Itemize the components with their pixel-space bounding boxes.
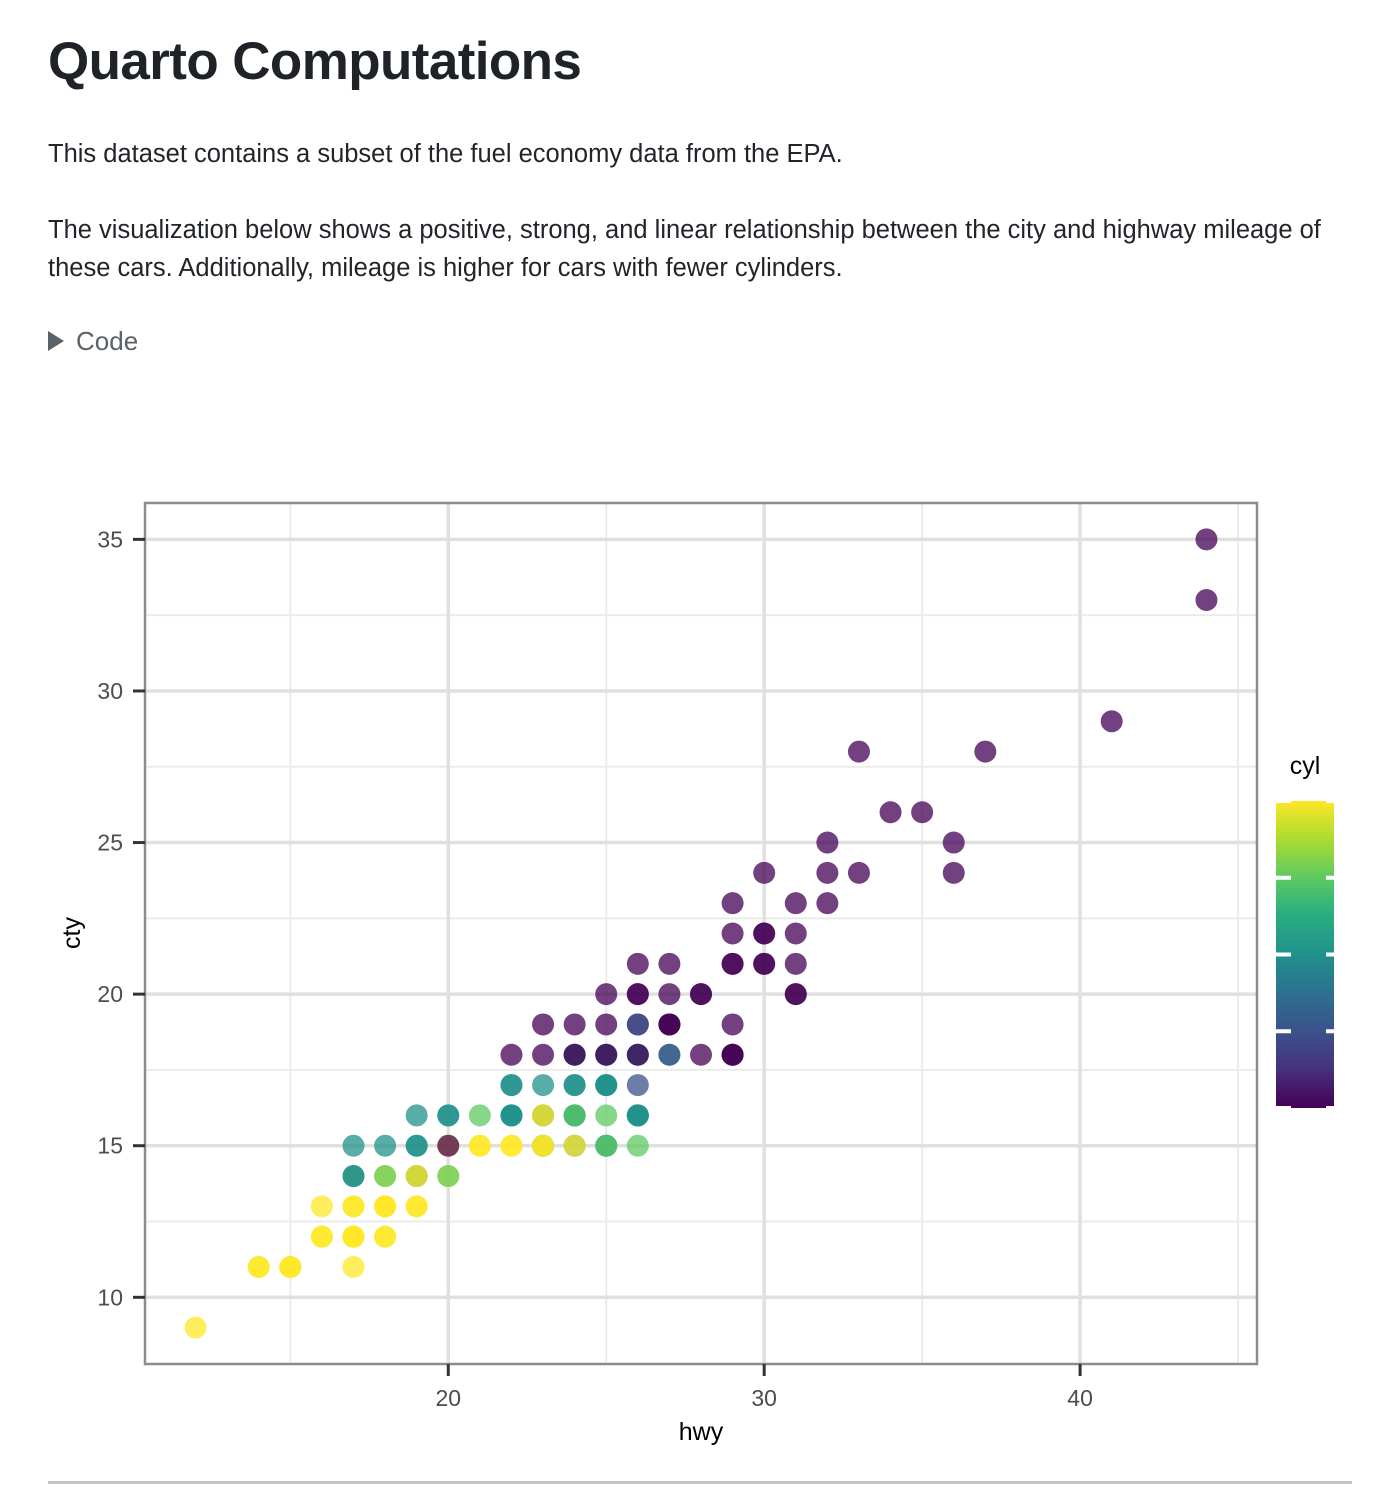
intro-paragraph: This dataset contains a subset of the fu… — [48, 91, 1352, 174]
data-point — [690, 983, 712, 1005]
data-point — [595, 1135, 617, 1157]
y-tick-label: 10 — [97, 1284, 123, 1310]
data-point — [1195, 589, 1217, 611]
data-point — [785, 892, 807, 914]
data-point — [406, 1104, 428, 1126]
data-point — [185, 1317, 207, 1339]
data-point — [279, 1256, 301, 1278]
data-point — [564, 1074, 586, 1096]
data-point — [722, 892, 744, 914]
data-point — [564, 1104, 586, 1126]
code-disclosure-label: Code — [76, 328, 138, 354]
data-point — [1195, 528, 1217, 550]
page-root: Quarto Computations This dataset contain… — [0, 0, 1400, 1500]
y-tick-label: 30 — [97, 678, 123, 704]
data-point — [343, 1226, 365, 1248]
x-axis-ticks: 203040 — [435, 1364, 1092, 1411]
data-point — [1101, 710, 1123, 732]
code-disclosure[interactable]: Code — [48, 328, 138, 354]
data-point — [343, 1165, 365, 1187]
data-point — [722, 953, 744, 975]
data-point — [406, 1195, 428, 1217]
data-point — [722, 923, 744, 945]
data-point — [816, 892, 838, 914]
data-point — [627, 953, 649, 975]
data-point — [595, 1044, 617, 1066]
data-point — [595, 1013, 617, 1035]
data-point — [816, 832, 838, 854]
data-point — [564, 1044, 586, 1066]
data-point — [753, 953, 775, 975]
description-paragraph: The visualization below shows a positive… — [48, 174, 1352, 287]
data-point — [848, 862, 870, 884]
data-point — [785, 923, 807, 945]
data-point — [500, 1074, 522, 1096]
data-point — [532, 1013, 554, 1035]
data-point — [816, 862, 838, 884]
triangle-right-icon[interactable] — [48, 331, 64, 351]
data-point — [500, 1044, 522, 1066]
data-point — [437, 1165, 459, 1187]
data-point — [248, 1256, 270, 1278]
data-point — [722, 1044, 744, 1066]
data-point — [532, 1044, 554, 1066]
data-point — [374, 1226, 396, 1248]
data-point — [343, 1195, 365, 1217]
y-axis-ticks: 101520253035 — [97, 526, 145, 1310]
data-point — [437, 1104, 459, 1126]
data-point — [911, 801, 933, 823]
y-tick-label: 15 — [97, 1133, 123, 1159]
y-tick-label: 35 — [97, 526, 123, 552]
data-point — [848, 741, 870, 763]
y-tick-label: 20 — [97, 981, 123, 1007]
data-point — [880, 801, 902, 823]
data-point — [690, 1044, 712, 1066]
data-point — [406, 1135, 428, 1157]
y-tick-label: 25 — [97, 830, 123, 856]
page-title: Quarto Computations — [48, 0, 1352, 91]
page-divider — [48, 1481, 1352, 1484]
data-point — [564, 1013, 586, 1035]
data-point — [753, 862, 775, 884]
data-point — [374, 1165, 396, 1187]
y-axis-title: cty — [58, 917, 86, 949]
x-tick-label: 40 — [1067, 1385, 1093, 1411]
data-point — [311, 1226, 333, 1248]
data-point — [595, 1104, 617, 1126]
data-point — [627, 1074, 649, 1096]
data-point — [753, 923, 775, 945]
x-tick-label: 20 — [435, 1385, 461, 1411]
data-point — [564, 1135, 586, 1157]
x-tick-label: 30 — [751, 1385, 777, 1411]
data-point — [943, 862, 965, 884]
article-content: Quarto Computations This dataset contain… — [48, 0, 1352, 354]
data-point — [785, 983, 807, 1005]
data-point — [974, 741, 996, 763]
data-point — [374, 1195, 396, 1217]
data-point — [500, 1104, 522, 1126]
data-point — [595, 1074, 617, 1096]
data-point — [469, 1135, 491, 1157]
data-point — [658, 953, 680, 975]
data-point — [406, 1165, 428, 1187]
data-point — [785, 953, 807, 975]
data-point — [532, 1104, 554, 1126]
data-point — [500, 1135, 522, 1157]
x-axis-title: hwy — [679, 1418, 724, 1446]
data-point — [627, 983, 649, 1005]
legend-colorbar[interactable]: cyl — [1276, 752, 1334, 1108]
data-point — [658, 983, 680, 1005]
data-point — [722, 1013, 744, 1035]
scatter-plot-figure: 101520253035 203040 cty hwy — [48, 488, 1352, 1448]
data-point — [627, 1135, 649, 1157]
scatter-plot-svg: 101520253035 203040 cty hwy — [48, 488, 1352, 1448]
legend-title: cyl — [1290, 752, 1321, 780]
data-point — [343, 1256, 365, 1278]
data-point — [374, 1135, 396, 1157]
data-point — [437, 1135, 459, 1157]
data-point — [343, 1135, 365, 1157]
data-point — [627, 1013, 649, 1035]
data-point — [627, 1104, 649, 1126]
data-point — [595, 983, 617, 1005]
data-point — [311, 1195, 333, 1217]
data-point — [469, 1104, 491, 1126]
data-point — [658, 1044, 680, 1066]
data-point — [532, 1074, 554, 1096]
data-point — [943, 832, 965, 854]
data-point — [532, 1135, 554, 1157]
data-point — [627, 1044, 649, 1066]
data-point — [658, 1013, 680, 1035]
